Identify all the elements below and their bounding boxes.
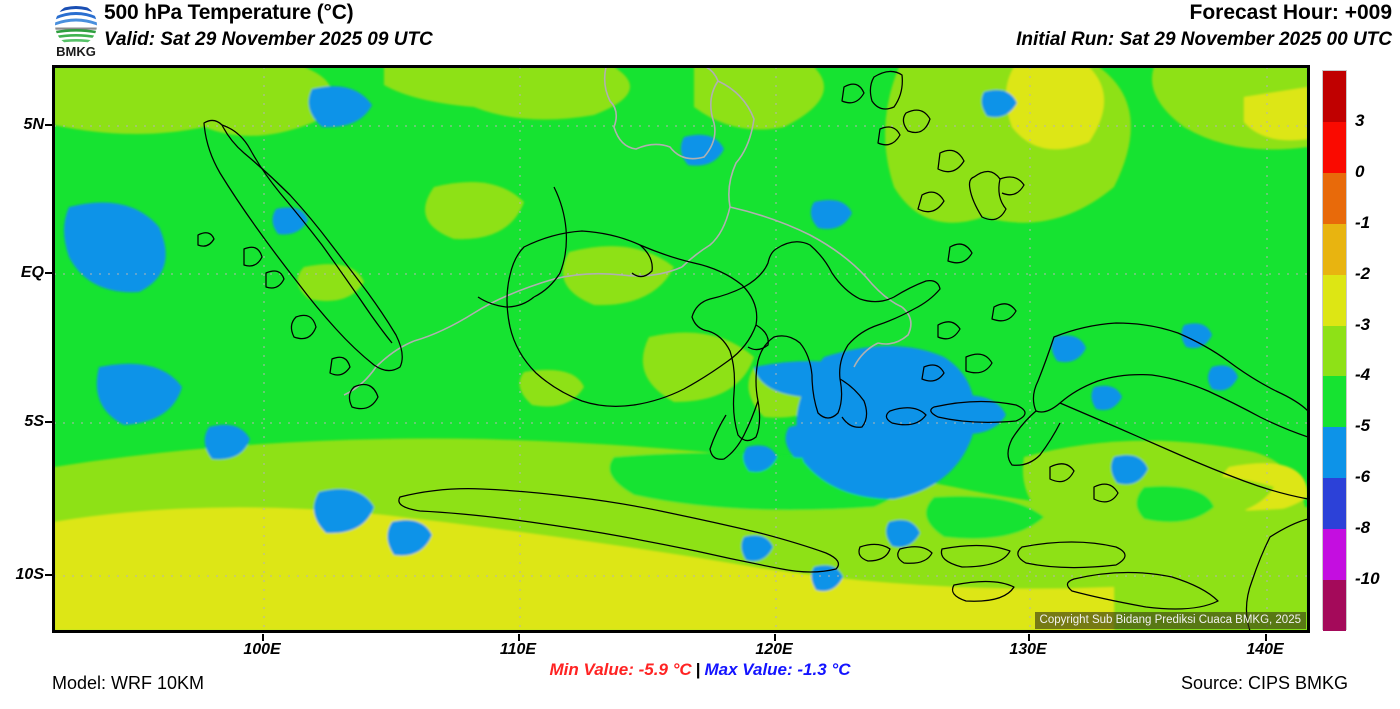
lat-tick-5s: 5S xyxy=(2,413,44,431)
lon-tick-mark-140e xyxy=(1265,634,1267,641)
bmkg-logo: BMKG xyxy=(47,2,105,58)
colorbar-band-1 xyxy=(1323,122,1346,173)
lon-tick-100e: 100E xyxy=(243,641,280,659)
map-contour-field xyxy=(54,67,1308,631)
copyright-watermark: Copyright Sub Bidang Prediksi Cuaca BMKG… xyxy=(1035,612,1306,629)
colorbar-tick-neg6: -6 xyxy=(1355,467,1370,487)
lat-tick-mark-eq xyxy=(45,272,52,274)
min-value-label: Min Value: -5.9 °C xyxy=(550,660,692,679)
lat-tick-mark-5n xyxy=(45,124,52,126)
colorbar-band-4 xyxy=(1323,275,1346,326)
initial-run-label: Initial Run: Sat 29 November 2025 00 UTC xyxy=(1016,29,1392,51)
lon-tick-120e: 120E xyxy=(755,641,792,659)
lat-tick-mark-5s xyxy=(45,421,52,423)
lon-tick-mark-120e xyxy=(774,634,776,641)
forecast-hour-label: Forecast Hour: +009 xyxy=(1190,1,1393,25)
colorbar-band-2 xyxy=(1323,173,1346,224)
lat-tick-5n: 5N xyxy=(2,116,44,134)
colorbar-tick-3: 3 xyxy=(1355,111,1364,131)
lon-tick-mark-110e xyxy=(518,634,520,641)
colorbar-tick-neg1: -1 xyxy=(1355,213,1370,233)
page-title: 500 hPa Temperature (°C) xyxy=(104,1,353,25)
minmax-separator: | xyxy=(692,660,705,679)
header-bar: BMKG 500 hPa Temperature (°C) Valid: Sat… xyxy=(0,0,1400,58)
lat-tick-10s: 10S xyxy=(0,566,44,584)
colorbar-band-8 xyxy=(1323,478,1346,529)
colorbar xyxy=(1322,70,1347,630)
colorbar-band-9 xyxy=(1323,529,1346,580)
logo-text: BMKG xyxy=(56,44,96,58)
lon-tick-110e: 110E xyxy=(500,641,536,659)
lat-tick-mark-10s xyxy=(45,574,52,576)
colorbar-tick-neg5: -5 xyxy=(1355,416,1370,436)
valid-time-label: Valid: Sat 29 November 2025 09 UTC xyxy=(104,29,433,51)
lon-tick-140e: 140E xyxy=(1246,641,1283,659)
colorbar-tick-neg4: -4 xyxy=(1355,365,1370,385)
colorbar-band-3 xyxy=(1323,224,1346,275)
temperature-map[interactable]: Copyright Sub Bidang Prediksi Cuaca BMKG… xyxy=(52,65,1310,633)
colorbar-tick-neg3: -3 xyxy=(1355,315,1370,335)
colorbar-band-10 xyxy=(1323,580,1346,631)
lat-tick-eq: EQ xyxy=(2,264,44,282)
colorbar-tick-neg10: -10 xyxy=(1355,569,1380,589)
max-value-label: Max Value: -1.3 °C xyxy=(704,660,850,679)
colorbar-band-7 xyxy=(1323,427,1346,478)
colorbar-band-0 xyxy=(1323,71,1346,122)
minmax-values: Min Value: -5.9 °C|Max Value: -1.3 °C xyxy=(0,660,1400,680)
colorbar-tick-neg2: -2 xyxy=(1355,264,1370,284)
colorbar-band-5 xyxy=(1323,326,1346,377)
colorbar-tick-neg8: -8 xyxy=(1355,518,1370,538)
colorbar-band-6 xyxy=(1323,376,1346,427)
lon-tick-mark-100e xyxy=(262,634,264,641)
colorbar-tick-0: 0 xyxy=(1355,162,1364,182)
lon-tick-mark-130e xyxy=(1028,634,1030,641)
lon-tick-130e: 130E xyxy=(1009,641,1046,659)
